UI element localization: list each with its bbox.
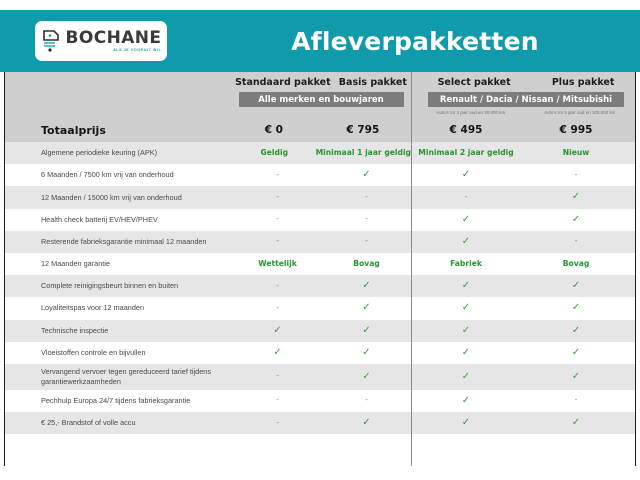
feature-value: - xyxy=(233,397,322,404)
feature-value: - xyxy=(411,194,521,201)
price-select: € 495 xyxy=(450,124,483,136)
feature-value: - xyxy=(322,397,411,404)
feature-value: Minimaal 2 jaar geldig xyxy=(411,149,521,157)
values-group-a: -✓ xyxy=(233,170,411,180)
feature-value: ✓ xyxy=(322,348,411,358)
total-price-label: Totaalprijs xyxy=(5,124,233,137)
column-sub-plus: Auto's tot 5 jaar oud en 100.000 km xyxy=(544,110,615,115)
feature-value: ✓ xyxy=(521,303,631,313)
values-group-a: -✓ xyxy=(233,303,411,313)
feature-label: Health check batterij EV/HEV/PHEV xyxy=(5,215,233,225)
group-b-titles: Select pakket Plus pakket xyxy=(417,72,635,88)
total-price-group-b: € 495 € 995 xyxy=(411,124,631,136)
column-title-standaard: Standaard pakket xyxy=(235,77,331,88)
feature-label: € 25,- Brandstof of volle accu xyxy=(5,418,233,428)
feature-value: ✓ xyxy=(521,215,631,225)
feature-value: ✓ xyxy=(411,372,521,382)
values-group-a: ✓✓ xyxy=(233,326,411,336)
feature-value: ✓ xyxy=(322,326,411,336)
feature-value: - xyxy=(233,194,322,201)
feature-value: ✓ xyxy=(411,170,521,180)
bochane-logo-tagline: ALS JE VOORUIT WIL xyxy=(113,49,161,53)
feature-label: 6 Maanden / 7500 km vrij van onderhoud xyxy=(5,170,233,180)
column-title-select: Select pakket xyxy=(438,77,511,88)
feature-value: Bovag xyxy=(521,260,631,268)
table-row: Vervangend vervoer tegen gereduceerd tar… xyxy=(5,364,635,390)
values-group-b: ✓✓ xyxy=(411,281,631,291)
values-group-a: -- xyxy=(233,238,411,245)
feature-value: ✓ xyxy=(411,326,521,336)
feature-value: ✓ xyxy=(411,348,521,358)
feature-value: - xyxy=(233,283,322,290)
values-group-a: -- xyxy=(233,397,411,404)
package-group-b: Select pakket Plus pakket Renault / Daci… xyxy=(417,72,635,124)
feature-value: Minimaal 1 jaar geldig xyxy=(316,149,411,157)
feature-value: Bovag xyxy=(322,260,411,268)
bochane-logo-wordmark: BOCHANE xyxy=(66,30,162,47)
feature-value: - xyxy=(322,216,411,223)
values-group-b: -✓ xyxy=(411,192,631,202)
price-plus: € 995 xyxy=(560,124,593,136)
feature-label: Algemene periodieke keuring (APK) xyxy=(5,148,233,158)
values-group-a: ✓✓ xyxy=(233,348,411,358)
column-title-basis: Basis pakket xyxy=(339,77,407,88)
values-group-a: -- xyxy=(233,216,411,223)
feature-value: ✓ xyxy=(521,192,631,202)
feature-value: ✓ xyxy=(233,326,322,336)
feature-value: - xyxy=(233,216,322,223)
feature-value: ✓ xyxy=(322,303,411,313)
group-b-scope-pill: Renault / Dacia / Nissan / Mitsubishi xyxy=(428,92,624,107)
values-group-a: GeldigMinimaal 1 jaar geldig xyxy=(233,149,411,157)
values-group-b: FabriekBovag xyxy=(411,260,631,268)
feature-label: Complete reinigingsbeurt binnen en buite… xyxy=(5,281,233,291)
column-sub-select: Auto's tot 3 jaar oud en 30.000 km xyxy=(437,110,506,115)
feature-value: ✓ xyxy=(521,348,631,358)
feature-value: - xyxy=(322,194,411,201)
feature-value: ✓ xyxy=(322,418,411,428)
values-group-b: Minimaal 2 jaar geldigNieuw xyxy=(411,149,631,157)
values-group-b: ✓✓ xyxy=(411,372,631,382)
feature-value: - xyxy=(322,238,411,245)
table-row: Resterende fabrieksgarantie minimaal 12 … xyxy=(5,231,635,253)
afleverpakketten-page: BOCHANE ALS JE VOORUIT WIL Afleverpakket… xyxy=(0,0,640,480)
feature-value: - xyxy=(233,305,322,312)
feature-label: Loyaliteitspas voor 12 maanden xyxy=(5,303,233,313)
page-title: Afleverpakketten xyxy=(190,10,640,72)
feature-value: ✓ xyxy=(411,281,521,291)
table-row: Pechhulp Europa 24/7 tijdens fabrieksgar… xyxy=(5,390,635,412)
values-group-a: -✓ xyxy=(233,281,411,291)
feature-value: Nieuw xyxy=(521,149,631,157)
feature-value: - xyxy=(233,238,322,245)
values-group-b: ✓✓ xyxy=(411,418,631,428)
total-price-row: Totaalprijs € 0 € 795 € 495 € 995 xyxy=(5,118,635,142)
table-row: 12 Maanden garantieWettelijkBovagFabriek… xyxy=(5,253,635,275)
table-row: Complete reinigingsbeurt binnen en buite… xyxy=(5,275,635,297)
feature-value: - xyxy=(521,238,631,245)
feature-value: ✓ xyxy=(322,281,411,291)
feature-value: - xyxy=(233,172,322,179)
feature-label: 12 Maanden / 15000 km vrij van onderhoud xyxy=(5,193,233,203)
values-group-b: ✓- xyxy=(411,237,631,247)
values-group-b: ✓✓ xyxy=(411,303,631,313)
table-bottom-pad xyxy=(5,454,635,479)
table-row: Technische inspectie✓✓✓✓ xyxy=(5,320,635,342)
feature-value: ✓ xyxy=(322,372,411,382)
feature-value: Wettelijk xyxy=(233,260,322,268)
feature-value: ✓ xyxy=(411,418,521,428)
feature-value: - xyxy=(521,397,631,404)
feature-label: Technische inspectie xyxy=(5,326,233,336)
table-row: 6 Maanden / 7500 km vrij van onderhoud-✓… xyxy=(5,164,635,186)
values-group-b: ✓✓ xyxy=(411,348,631,358)
feature-value: - xyxy=(233,420,322,427)
feature-label: Resterende fabrieksgarantie minimaal 12 … xyxy=(5,237,233,247)
bochane-logo-text: BOCHANE ALS JE VOORUIT WIL xyxy=(66,30,162,53)
feature-value: ✓ xyxy=(521,372,631,382)
feature-value: ✓ xyxy=(322,170,411,180)
price-basis: € 795 xyxy=(346,124,379,136)
feature-value: - xyxy=(521,172,631,179)
feature-value: ✓ xyxy=(521,418,631,428)
feature-value: Geldig xyxy=(233,149,316,157)
table-row: Loyaliteitspas voor 12 maanden-✓✓✓ xyxy=(5,297,635,319)
table-row: Health check batterij EV/HEV/PHEV--✓✓ xyxy=(5,209,635,231)
bochane-logo[interactable]: BOCHANE ALS JE VOORUIT WIL xyxy=(35,21,167,61)
feature-label: Vervangend vervoer tegen gereduceerd tar… xyxy=(5,367,233,387)
values-group-a: -✓ xyxy=(233,372,411,382)
group-a-titles: Standaard pakket Basis pakket xyxy=(231,72,411,88)
table-row: 12 Maanden / 15000 km vrij van onderhoud… xyxy=(5,186,635,208)
feature-label: Vloeistoffen controle en bijvullen xyxy=(5,348,233,358)
feature-value: ✓ xyxy=(521,326,631,336)
column-title-plus: Plus pakket xyxy=(552,77,615,88)
values-group-a: -- xyxy=(233,194,411,201)
price-standaard: € 0 xyxy=(265,124,283,136)
values-group-a: -✓ xyxy=(233,418,411,428)
page-banner: BOCHANE ALS JE VOORUIT WIL Afleverpakket… xyxy=(0,10,640,72)
values-group-b: ✓- xyxy=(411,396,631,406)
group-b-subtitles: Auto's tot 3 jaar oud en 30.000 km Auto'… xyxy=(417,110,635,115)
values-group-b: ✓✓ xyxy=(411,215,631,225)
feature-value: ✓ xyxy=(411,303,521,313)
bochane-logo-mark-icon xyxy=(41,29,61,53)
feature-value: ✓ xyxy=(411,396,521,406)
group-a-scope-pill: Alle merken en bouwjaren xyxy=(239,92,404,107)
table-row: Algemene periodieke keuring (APK)GeldigM… xyxy=(5,142,635,164)
feature-value: ✓ xyxy=(521,281,631,291)
table-row: € 25,- Brandstof of volle accu-✓✓✓ xyxy=(5,412,635,434)
values-group-b: ✓- xyxy=(411,170,631,180)
total-price-group-a: € 0 € 795 xyxy=(233,124,411,136)
feature-value: ✓ xyxy=(233,348,322,358)
feature-value: ✓ xyxy=(411,215,521,225)
feature-value: - xyxy=(233,373,322,380)
group-divider xyxy=(411,72,412,466)
values-group-b: ✓✓ xyxy=(411,326,631,336)
feature-value: Fabriek xyxy=(411,260,521,268)
feature-value: ✓ xyxy=(411,237,521,247)
feature-label: Pechhulp Europa 24/7 tijdens fabrieksgar… xyxy=(5,396,233,406)
package-group-a: Standaard pakket Basis pakket Alle merke… xyxy=(231,72,411,124)
values-group-a: WettelijkBovag xyxy=(233,260,411,268)
feature-rows: Algemene periodieke keuring (APK)GeldigM… xyxy=(5,142,635,434)
feature-label: 12 Maanden garantie xyxy=(5,259,233,269)
table-row: Vloeistoffen controle en bijvullen✓✓✓✓ xyxy=(5,342,635,364)
